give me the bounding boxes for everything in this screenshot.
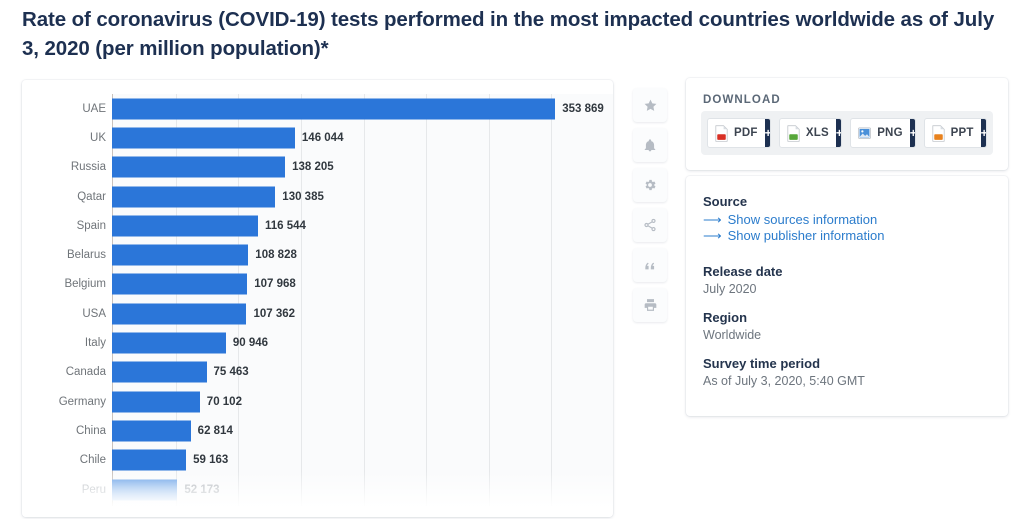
release-date-heading: Release date	[703, 264, 992, 279]
source-heading: Source	[703, 194, 992, 209]
bar[interactable]	[112, 362, 207, 383]
download-ppt-options-button[interactable]: +	[981, 119, 987, 147]
download-xls-main[interactable]: XLS	[780, 119, 836, 147]
bar[interactable]	[112, 391, 200, 412]
bar-category-label: Qatar	[22, 191, 106, 203]
download-ppt-label: PPT	[951, 127, 974, 139]
bar[interactable]	[112, 157, 285, 178]
download-ppt-main[interactable]: PPT	[925, 119, 981, 147]
statista-chart-page: Rate of coronavirus (COVID-19) tests per…	[0, 0, 1024, 519]
bar-row[interactable]: Canada75 463	[22, 358, 613, 387]
bar-value-label: 59 163	[193, 454, 228, 466]
show-sources-link[interactable]: ⟶ Show sources information	[703, 212, 992, 227]
bar-category-label: USA	[22, 308, 106, 320]
bar-category-label: Russia	[22, 161, 106, 173]
bar-category-label: UK	[22, 132, 106, 144]
bar-category-label: UAE	[22, 103, 106, 115]
bar-row[interactable]: Qatar130 385	[22, 182, 613, 211]
show-publisher-link[interactable]: ⟶ Show publisher information	[703, 228, 992, 243]
bar-value-label: 107 362	[253, 308, 295, 320]
chart-action-toolbar	[633, 88, 667, 328]
bar-value-label: 75 463	[214, 366, 249, 378]
page-title: Rate of coronavirus (COVID-19) tests per…	[22, 5, 1012, 63]
bar-value-label: 90 946	[233, 337, 268, 349]
bar[interactable]	[112, 98, 555, 119]
download-pdf-options-button[interactable]: +	[765, 119, 771, 147]
release-date-value: July 2020	[703, 282, 992, 296]
bar-value-label: 353 869	[562, 103, 604, 115]
xls-file-icon	[786, 125, 801, 142]
bar-row[interactable]: Germany70 102	[22, 387, 613, 416]
download-ppt-button[interactable]: PPT+	[924, 118, 987, 148]
citation-icon[interactable]	[633, 248, 667, 282]
bar[interactable]	[112, 245, 248, 266]
download-png-label: PNG	[877, 127, 903, 139]
bar-row[interactable]: Peru52 173	[22, 475, 613, 504]
bar-row[interactable]: Belarus108 828	[22, 240, 613, 269]
bar-category-label: Italy	[22, 337, 106, 349]
bar-category-label: Spain	[22, 220, 106, 232]
download-xls-options-button[interactable]: +	[836, 119, 842, 147]
notification-icon[interactable]	[633, 128, 667, 162]
bar[interactable]	[112, 450, 186, 471]
bar[interactable]	[112, 479, 177, 500]
bar-category-label: China	[22, 425, 106, 437]
chart-card: UAE353 869UK146 044Russia138 205Qatar130…	[22, 80, 613, 517]
bar-value-label: 107 968	[254, 278, 296, 290]
bar[interactable]	[112, 127, 295, 148]
bar-row[interactable]: China62 814	[22, 416, 613, 445]
bar-category-label: Chile	[22, 454, 106, 466]
source-section: Source ⟶ Show sources information ⟶ Show…	[703, 194, 992, 243]
bar-row[interactable]: Spain116 544	[22, 211, 613, 240]
bar-row[interactable]: Russia138 205	[22, 153, 613, 182]
download-xls-label: XLS	[806, 127, 829, 139]
region-section: Region Worldwide	[703, 310, 992, 342]
survey-period-heading: Survey time period	[703, 356, 992, 371]
bar-chart: UAE353 869UK146 044Russia138 205Qatar130…	[22, 80, 613, 517]
download-heading: DOWNLOAD	[703, 94, 781, 106]
download-png-main[interactable]: PNG	[851, 119, 910, 147]
region-value: Worldwide	[703, 328, 992, 342]
download-pdf-label: PDF	[734, 127, 758, 139]
download-png-options-button[interactable]: +	[910, 119, 916, 147]
bar-category-label: Peru	[22, 484, 106, 496]
download-pdf-main[interactable]: PDF	[708, 119, 765, 147]
download-pdf-button[interactable]: PDF+	[707, 118, 771, 148]
bar-row[interactable]: UAE353 869	[22, 94, 613, 123]
bar-row[interactable]: Belgium107 968	[22, 270, 613, 299]
bar-row[interactable]: Italy90 946	[22, 328, 613, 357]
survey-period-section: Survey time period As of July 3, 2020, 5…	[703, 356, 992, 388]
bar-value-label: 52 173	[184, 484, 219, 496]
survey-period-value: As of July 3, 2020, 5:40 GMT	[703, 374, 992, 388]
bar-category-label: Belarus	[22, 249, 106, 261]
info-card: Source ⟶ Show sources information ⟶ Show…	[686, 176, 1008, 416]
bar-value-label: 116 544	[265, 220, 306, 232]
bar-value-label: 62 814	[198, 425, 233, 437]
bar-row[interactable]: USA107 362	[22, 299, 613, 328]
arrow-right-icon: ⟶	[703, 213, 722, 226]
ppt-file-icon	[931, 125, 946, 142]
bar-row[interactable]: UK146 044	[22, 123, 613, 152]
pdf-file-icon	[714, 125, 729, 142]
bar[interactable]	[112, 333, 226, 354]
download-card: DOWNLOAD PDF+XLS+PNG+PPT+	[686, 78, 1008, 170]
bar-category-label: Belgium	[22, 278, 106, 290]
release-date-section: Release date July 2020	[703, 264, 992, 296]
bar-row[interactable]: Chile59 163	[22, 446, 613, 475]
bar-value-label: 138 205	[292, 161, 334, 173]
bar-value-label: 146 044	[302, 132, 344, 144]
bar-value-label: 70 102	[207, 396, 242, 408]
bar-value-label: 108 828	[255, 249, 297, 261]
download-xls-button[interactable]: XLS+	[779, 118, 842, 148]
bar[interactable]	[112, 215, 258, 236]
download-buttons: PDF+XLS+PNG+PPT+	[701, 111, 993, 155]
download-png-button[interactable]: PNG+	[850, 118, 915, 148]
bar[interactable]	[112, 274, 247, 295]
bar-category-label: Germany	[22, 396, 106, 408]
share-icon[interactable]	[633, 208, 667, 242]
png-file-icon	[857, 125, 872, 142]
chart-rows: UAE353 869UK146 044Russia138 205Qatar130…	[22, 94, 613, 506]
arrow-right-icon: ⟶	[703, 229, 722, 242]
favorite-icon[interactable]	[633, 88, 667, 122]
show-sources-label: Show sources information	[728, 212, 878, 227]
bar[interactable]	[112, 303, 246, 324]
bar-category-label: Canada	[22, 366, 106, 378]
region-heading: Region	[703, 310, 992, 325]
bar[interactable]	[112, 186, 275, 207]
show-publisher-label: Show publisher information	[728, 228, 885, 243]
bar[interactable]	[112, 420, 191, 441]
print-icon[interactable]	[633, 288, 667, 322]
settings-icon[interactable]	[633, 168, 667, 202]
bar-value-label: 130 385	[282, 191, 324, 203]
